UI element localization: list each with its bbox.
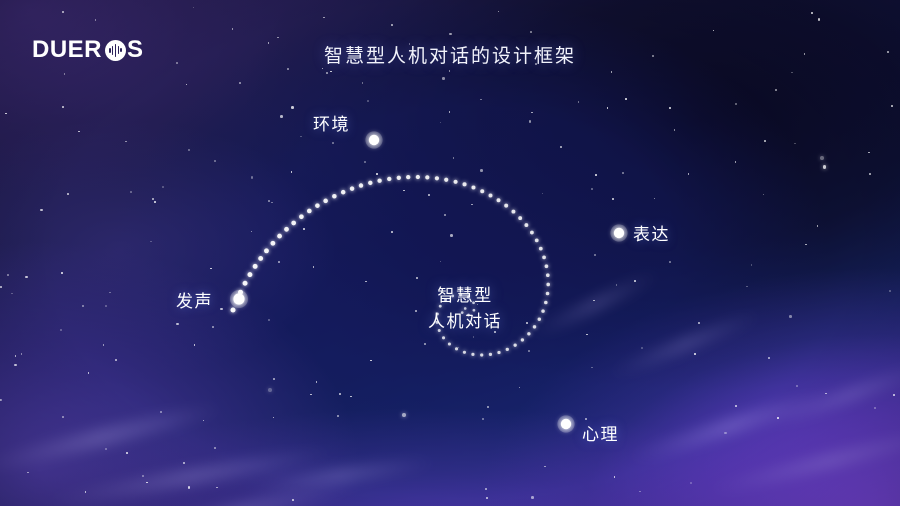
spiral-dot [397,176,401,180]
spiral-diagram [0,0,900,506]
spiral-dot [243,281,248,286]
spiral-dot [368,181,372,185]
spiral-dot [504,204,508,208]
spiral-dot [511,210,515,214]
center-label-line2: 人机对话 [398,309,532,335]
page-title: 智慧型人机对话的设计框架 [0,41,900,68]
spiral-dot [513,343,516,346]
spiral-dot [299,214,304,219]
spiral-dot [416,175,420,179]
spiral-dot [480,353,483,356]
spiral-node-dot-xinli[interactable] [561,419,571,429]
spiral-dot [489,353,492,356]
spiral-dot [247,272,252,277]
spiral-dot [442,336,445,339]
spiral-dot [471,185,475,189]
spiral-dot [448,342,451,345]
spiral-dot [455,347,458,350]
center-label-line1: 智慧型 [398,283,532,309]
spiral-dot [284,227,289,232]
spiral-dot [435,176,439,180]
spiral-dot [518,216,522,220]
spiral-dot [463,351,466,354]
spiral-dot [277,234,282,239]
spiral-dot [258,256,263,261]
spiral-dot [535,239,539,243]
spiral-node-dot-huanjing[interactable] [369,135,379,145]
spiral-dot [462,182,466,186]
spiral-dot [387,177,391,181]
spiral-dot [425,175,429,179]
spiral-dot [264,248,269,253]
spiral-dot [544,301,548,305]
spiral-dot [546,283,550,287]
spiral-dot [230,307,235,312]
spiral-dot [545,264,549,268]
spiral-dot [538,318,541,321]
spiral-dot [530,231,534,235]
spiral-dot [454,180,458,184]
spiral-dot [377,178,381,182]
node-label-biaoda: 表达 [633,220,670,245]
spiral-node-dot-fasheng[interactable] [233,293,244,304]
spiral-dot [539,247,543,251]
spiral-dot [332,194,337,199]
spiral-dot [444,178,448,182]
spiral-dot [291,221,296,226]
node-label-huanjing: 环境 [313,110,350,135]
spiral-dot [471,353,474,356]
spiral-dot [270,241,275,246]
spiral-node-dot-biaoda[interactable] [614,228,624,238]
node-label-fasheng: 发声 [176,287,213,312]
spiral-dot [497,198,501,202]
spiral-dot [488,193,492,197]
spiral-dot [533,325,536,328]
spiral-dot [359,183,363,187]
spiral-dot [307,209,312,214]
spiral-dot [546,273,550,277]
spiral-dot [406,175,410,179]
spiral-dot [521,338,524,341]
spiral-dot [341,190,346,195]
node-label-xinli: 心理 [582,420,619,445]
slide-canvas: DUER S 智慧型人机对话的设计框架 智慧型 人机对话 环境表达发声心理 [0,0,900,506]
spiral-dot [542,255,546,259]
spiral-dot [541,309,545,313]
spiral-dot [323,199,328,204]
spiral-dot [497,351,500,354]
spiral-center-label: 智慧型 人机对话 [398,283,532,336]
spiral-dot [480,189,484,193]
spiral-dot [350,186,355,191]
spiral-dot [524,223,528,227]
spiral-dot [253,264,258,269]
spiral-dot [315,203,320,208]
spiral-dot [546,292,550,296]
spiral-dot [506,348,509,351]
